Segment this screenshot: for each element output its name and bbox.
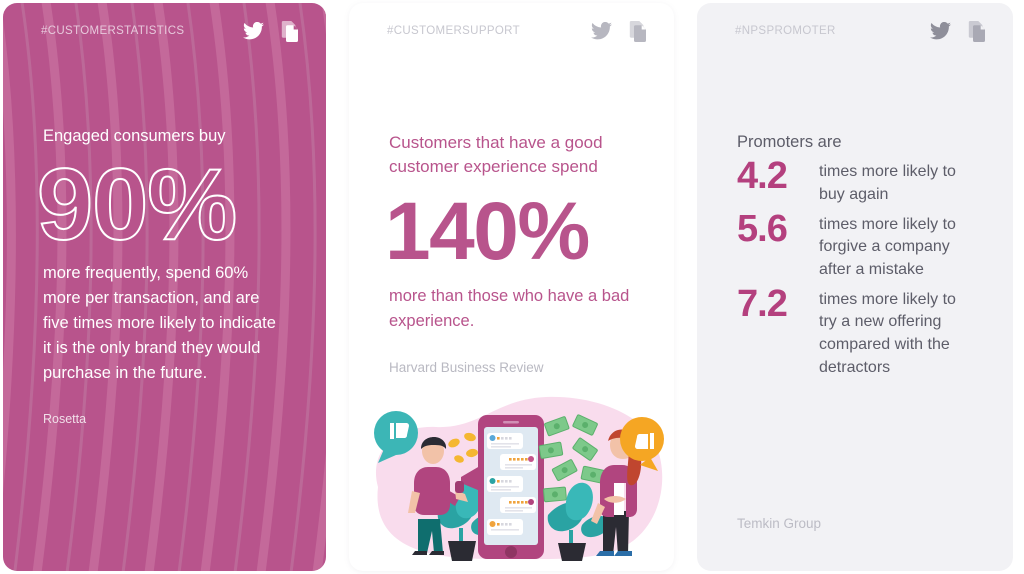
card-hashtag: #NPSPROMOTER bbox=[735, 25, 836, 37]
customer-reviews-illustration bbox=[359, 391, 666, 563]
card-content: Promoters are 4.2 times more likely to b… bbox=[697, 59, 1013, 571]
stat-cards-board: #CUSTOMERSTATISTICS Engaged consumers bbox=[0, 0, 1024, 574]
stat-card-customer-statistics[interactable]: #CUSTOMERSTATISTICS Engaged consumers bbox=[3, 3, 326, 571]
stat-description: times more likely to buy again bbox=[819, 156, 973, 206]
stat-value: 7.2 bbox=[737, 284, 819, 325]
card-header: #CUSTOMERSTATISTICS bbox=[3, 3, 326, 59]
card-actions bbox=[243, 21, 300, 42]
card-lead-text: Customers that have a good customer expe… bbox=[389, 131, 634, 179]
stat-row: 5.6 times more likely to forgive a compa… bbox=[737, 209, 973, 282]
card-lead-text: Promoters are bbox=[737, 131, 973, 154]
stat-row: 7.2 times more likely to try a new offer… bbox=[737, 284, 973, 380]
card-header: #CUSTOMERSUPPORT bbox=[349, 3, 674, 59]
card-statistic: 140% bbox=[385, 189, 634, 276]
stat-card-nps-promoter[interactable]: #NPSPROMOTER Promoters are bbox=[697, 3, 1013, 571]
card-actions bbox=[930, 21, 987, 42]
card-header: #NPSPROMOTER bbox=[697, 3, 1013, 59]
card-source: Rosetta bbox=[43, 412, 286, 426]
twitter-icon[interactable] bbox=[930, 22, 951, 40]
stat-description: times more likely to try a new offering … bbox=[819, 284, 973, 380]
card-statistic: 90% bbox=[37, 154, 286, 257]
card-hashtag: #CUSTOMERSUPPORT bbox=[387, 25, 520, 37]
copy-icon[interactable] bbox=[628, 21, 648, 42]
copy-icon[interactable] bbox=[967, 21, 987, 42]
twitter-icon[interactable] bbox=[591, 22, 612, 40]
card-actions bbox=[591, 21, 648, 42]
twitter-icon[interactable] bbox=[243, 22, 264, 40]
card-content: Engaged consumers buy 90% more frequentl… bbox=[3, 59, 326, 571]
card-hashtag: #CUSTOMERSTATISTICS bbox=[41, 25, 184, 37]
card-body-text: more frequently, spend 60% more per tran… bbox=[43, 261, 286, 386]
stat-value: 4.2 bbox=[737, 156, 819, 197]
stat-description: times more likely to forgive a company a… bbox=[819, 209, 973, 282]
card-source: Harvard Business Review bbox=[389, 360, 634, 375]
stat-value: 5.6 bbox=[737, 209, 819, 250]
card-source: Temkin Group bbox=[737, 516, 821, 531]
card-body-text: more than those who have a bad experienc… bbox=[389, 284, 634, 334]
stat-row: 4.2 times more likely to buy again bbox=[737, 156, 973, 206]
card-lead-text: Engaged consumers buy bbox=[43, 125, 286, 148]
stat-card-customer-support[interactable]: #CUSTOMERSUPPORT Customers that have bbox=[349, 3, 674, 571]
copy-icon[interactable] bbox=[280, 21, 300, 42]
